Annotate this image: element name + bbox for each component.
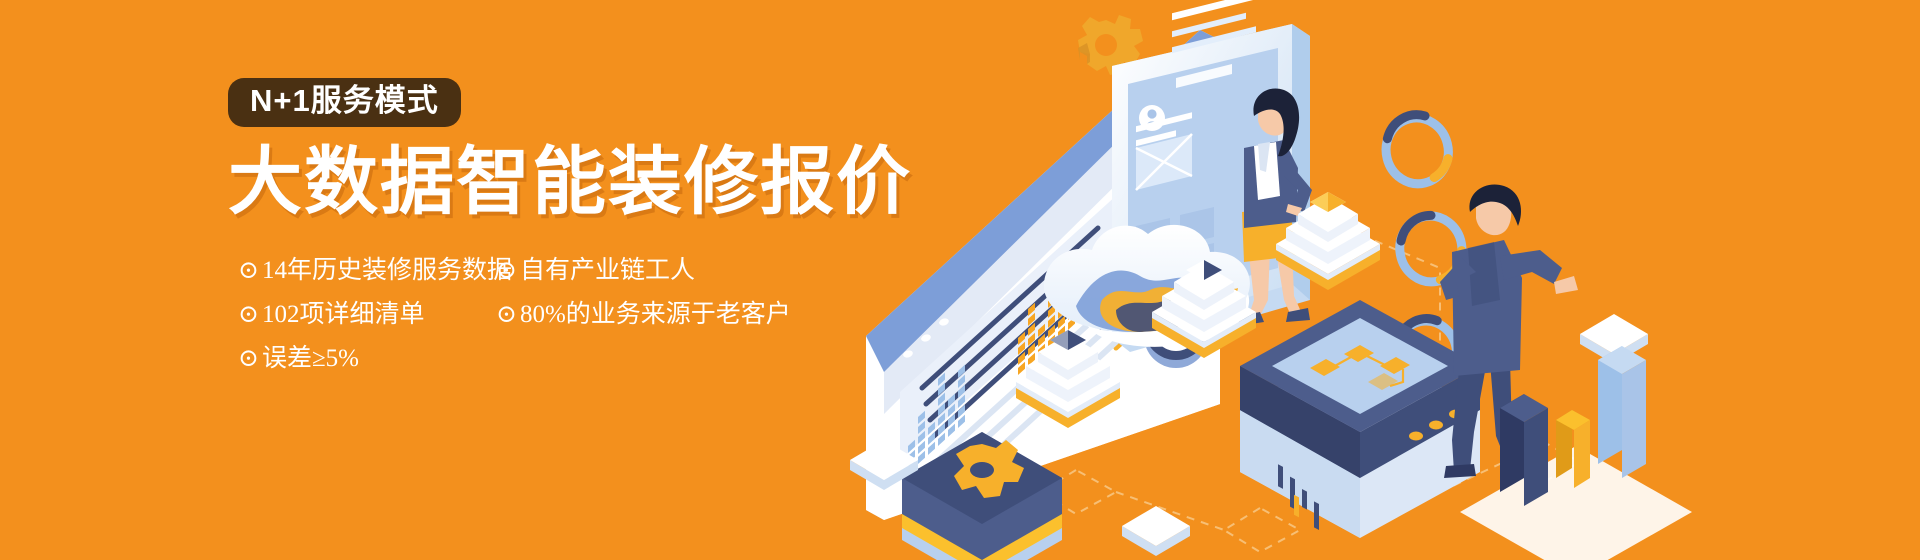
server-box: [1240, 300, 1480, 538]
list-item-label: 102项详细清单: [262, 301, 425, 328]
service-mode-badge: N+1服务模式: [228, 78, 461, 127]
list-item-label: 80%的业务来源于老客户: [520, 301, 791, 328]
list-item: ⊙80%的业务来源于老客户: [496, 293, 826, 337]
list-item: ⊙14年历史装修服务数据: [228, 249, 496, 293]
feature-bullet-list: ⊙14年历史装修服务数据 ⊙自有产业链工人 ⊙102项详细清单 ⊙80%的业务来…: [228, 249, 848, 381]
circled-dot-icon: ⊙: [238, 345, 259, 372]
circled-dot-icon: ⊙: [496, 301, 517, 328]
list-item: ⊙误差≥5%: [228, 337, 496, 381]
isometric-big-data-illustration: [840, 0, 1920, 560]
list-item-label: 14年历史装修服务数据: [262, 257, 512, 284]
list-item-label: 误差≥5%: [262, 345, 359, 372]
list-item-label: 自有产业链工人: [520, 257, 695, 284]
promo-banner: N+1服务模式 大数据智能装修报价 ⊙14年历史装修服务数据 ⊙自有产业链工人 …: [0, 0, 1920, 560]
list-item: ⊙102项详细清单: [228, 293, 496, 337]
list-item: ⊙自有产业链工人: [496, 249, 826, 293]
circled-dot-icon: ⊙: [496, 257, 517, 284]
ring-chart-1: [1378, 108, 1455, 190]
circled-dot-icon: ⊙: [238, 301, 259, 328]
circled-dot-icon: ⊙: [238, 257, 259, 284]
